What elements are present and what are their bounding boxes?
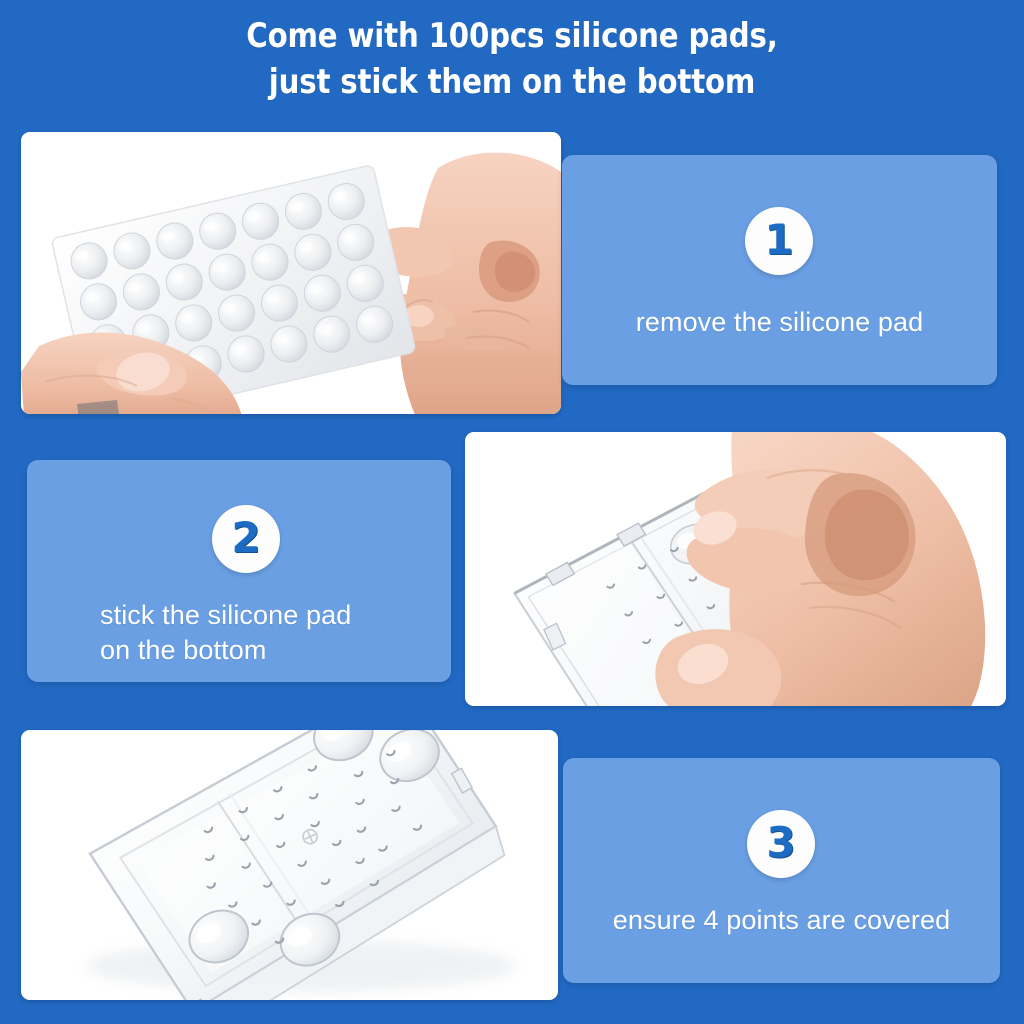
step-1-number: 1 [764,219,793,261]
step-2-number-badge: 2 [212,505,280,573]
headline-line-2: just stick them on the bottom [72,60,953,106]
step-2-caption: stick the silicone pad on the bottom [100,598,430,668]
step-2-number: 2 [231,517,260,559]
step-2-caption-line-2: on the bottom [100,635,266,665]
step-1-caption: remove the silicone pad [562,305,997,340]
step-1-number-badge: 1 [745,207,813,275]
page-title: Come with 100pcs silicone pads, just sti… [72,14,953,105]
headline-line-1: Come with 100pcs silicone pads, [246,16,777,56]
step-1-photo [21,132,561,414]
hand-pressing-pad-onto-tray-illustration [465,432,1006,706]
step-2-photo [465,432,1006,706]
tray-bottom-with-four-pads-illustration [21,730,558,1000]
step-2-caption-line-1: stick the silicone pad [100,600,351,630]
step-3-photo [21,730,558,1000]
infographic-canvas: Come with 100pcs silicone pads, just sti… [0,0,1024,1024]
step-3-number-badge: 3 [747,810,815,878]
step-3-caption: ensure 4 points are covered [563,903,1000,938]
hands-peeling-silicone-pad-from-sheet-illustration [21,132,561,414]
step-3-number: 3 [766,822,795,864]
